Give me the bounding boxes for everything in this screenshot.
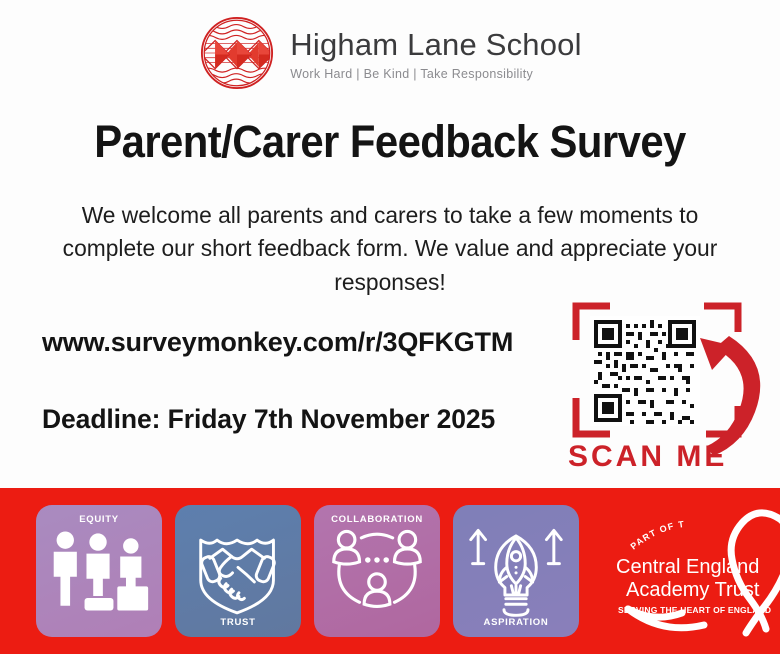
rocket-lightbulb-arrows-icon xyxy=(465,523,567,619)
survey-url[interactable]: www.surveymonkey.com/r/3QFKGTM xyxy=(42,327,513,358)
school-motto: Work Hard | Be Kind | Take Responsibilit… xyxy=(290,67,533,81)
three-people-on-boxes-icon xyxy=(46,526,152,616)
school-name-block: Higham Lane School Work Hard | Be Kind |… xyxy=(290,25,581,81)
school-header: Higham Lane School Work Hard | Be Kind |… xyxy=(0,14,780,92)
values-banner: EQUITY TRUST xyxy=(0,488,780,654)
higham-lane-school-crest-icon xyxy=(198,14,276,92)
value-tile-trust: TRUST xyxy=(175,505,301,637)
curved-arrow-icon xyxy=(700,336,760,456)
central-england-academy-trust-logo: PART OF THE Central England Academy Trus… xyxy=(604,501,780,641)
handshake-shield-icon xyxy=(188,525,288,617)
value-label-aspiration: ASPIRATION xyxy=(453,617,579,628)
value-tile-equity: EQUITY xyxy=(36,505,162,637)
scan-me-label: SCAN ME xyxy=(568,440,727,473)
trust-part-of-the: PART OF THE xyxy=(604,501,686,552)
value-label-equity: EQUITY xyxy=(36,514,162,525)
deadline-text: Deadline: Friday 7th November 2025 xyxy=(42,404,495,435)
qr-code-icon xyxy=(590,316,700,426)
value-label-collaboration: COLLABORATION xyxy=(314,514,440,525)
three-people-circle-icon xyxy=(326,525,428,617)
page-title: Parent/Carer Feedback Survey xyxy=(27,116,752,168)
intro-paragraph: We welcome all parents and carers to tak… xyxy=(41,199,739,299)
poster: Higham Lane School Work Hard | Be Kind |… xyxy=(0,0,780,654)
trust-strapline: SERVING THE HEART OF ENGLAND xyxy=(618,605,771,615)
value-tile-aspiration: ASPIRATION xyxy=(453,505,579,637)
value-label-trust: TRUST xyxy=(175,617,301,628)
value-tile-collaboration: COLLABORATION xyxy=(314,505,440,637)
qr-scan-block[interactable]: SCAN ME xyxy=(552,288,764,476)
trust-name-line1: Central England xyxy=(616,556,759,578)
trust-name-line2: Academy Trust xyxy=(626,579,760,601)
school-name: Higham Lane School xyxy=(290,29,581,62)
